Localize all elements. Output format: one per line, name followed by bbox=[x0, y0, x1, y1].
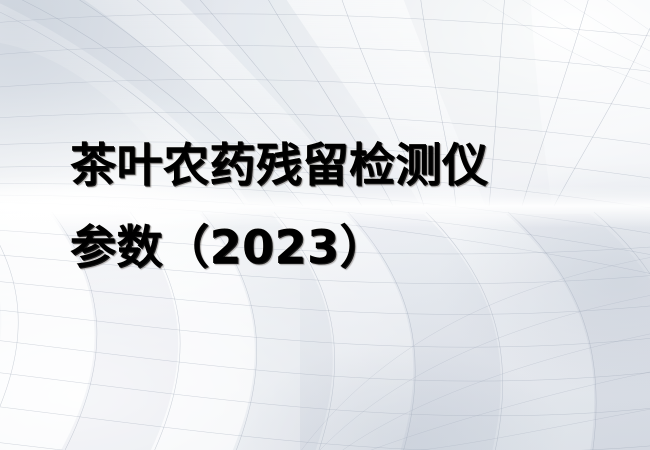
title-line-2: 参数（2023） bbox=[70, 206, 610, 288]
page-title: 茶叶农药残留检测仪 参数（2023） bbox=[70, 124, 610, 288]
title-slide: 茶叶农药残留检测仪 参数（2023） bbox=[0, 0, 650, 450]
title-line-1: 茶叶农药残留检测仪 bbox=[70, 124, 610, 206]
